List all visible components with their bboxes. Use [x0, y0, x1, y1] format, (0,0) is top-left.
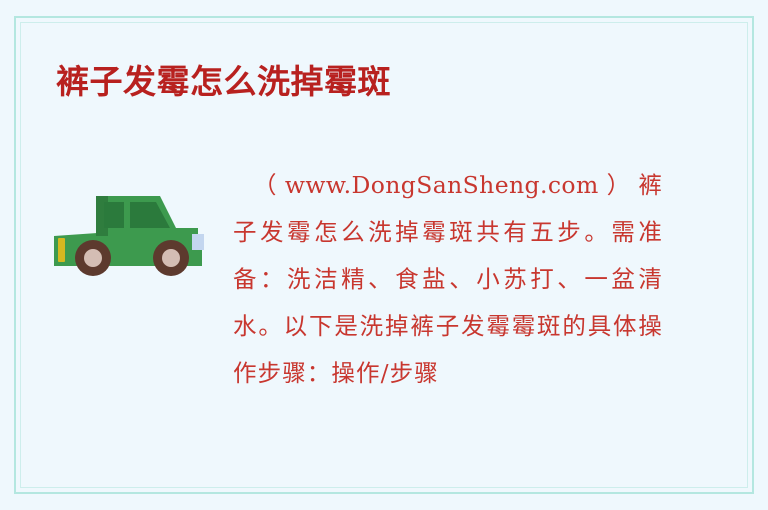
truck-wheel-rear-hub [162, 249, 180, 267]
truck-taillight [192, 234, 204, 250]
green-pickup-truck-icon [52, 172, 208, 276]
article-paragraph: 裤子发霉怎么洗掉霉斑共有五步。需准备：洗洁精、食盐、小苏打、一盆清水。以下是洗掉… [233, 171, 663, 387]
truck-headlight [58, 238, 65, 262]
article-illustration [52, 172, 208, 276]
truck-rear-window [104, 202, 124, 228]
source-site-url: （www.DongSanSheng.com） [253, 171, 638, 199]
truck-wheel-front-hub [84, 249, 102, 267]
article-body: （www.DongSanSheng.com）裤子发霉怎么洗掉霉斑共有五步。需准备… [233, 162, 663, 397]
page-title: 裤子发霉怎么洗掉霉斑 [56, 62, 391, 102]
